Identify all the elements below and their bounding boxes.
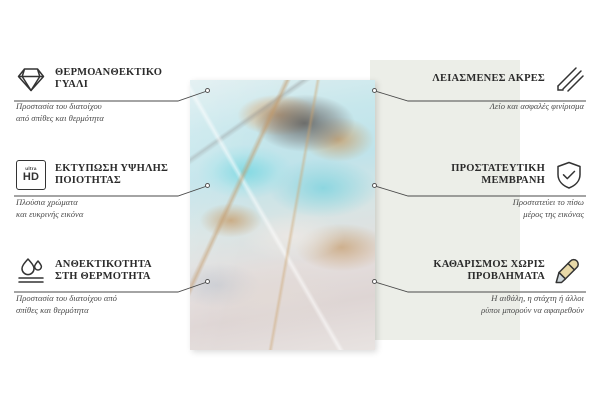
feature-body: Λείο και ασφαλές φινίρισμα	[416, 101, 584, 113]
feature-heat-durability: ΑΝΘΕΚΤΙΚΟΤΗΤΑ ΣΤΗ ΘΕΡΜΟΤΗΤΑ Προστασία το…	[16, 256, 184, 316]
feature-title: ΘΕΡΜΟΑΝΘΕΚΤΙΚΟ ΓΥΑΛΙ	[55, 67, 173, 92]
feature-header: ΘΕΡΜΟΑΝΘΕΚΤΙΚΟ ΓΥΑΛΙ	[16, 64, 184, 94]
infographic-stage: ΘΕΡΜΟΑΝΘΕΚΤΙΚΟ ΓΥΑΛΙ Προστασία του διατο…	[0, 0, 600, 400]
feature-easy-cleaning: ΚΑΘΑΡΙΣΜΟΣ ΧΩΡΙΣ ΠΡΟΒΛΗΜΑΤΑ Η αιθάλη, η …	[416, 256, 584, 316]
feature-title: ΚΑΘΑΡΙΣΜΟΣ ΧΩΡΙΣ ΠΡΟΒΛΗΜΑΤΑ	[427, 259, 545, 284]
connector-node	[205, 279, 210, 284]
feature-title: ΛΕΙΑΣΜΕΝΕΣ ΑΚΡΕΣ	[432, 73, 545, 85]
sponge-clean-icon	[554, 256, 584, 286]
connector-node	[205, 183, 210, 188]
feature-header: ultra HD ΕΚΤΥΠΩΣΗ ΥΨΗΛΗΣ ΠΟΙΟΤΗΤΑΣ	[16, 160, 184, 190]
feature-protective-film: ΠΡΟΣΤΑΤΕΥΤΙΚΗ ΜΕΜΒΡΑΝΗ Προστατεύει το πί…	[416, 160, 584, 220]
connector-node	[372, 88, 377, 93]
feature-body: Η αιθάλη, η στάχτη ή άλλοι ρύποι μπορούν…	[416, 293, 584, 316]
feature-smooth-edges: ΛΕΙΑΣΜΕΝΕΣ ΑΚΡΕΣ Λείο και ασφαλές φινίρι…	[416, 64, 584, 113]
feature-header: ΠΡΟΣΤΑΤΕΥΤΙΚΗ ΜΕΜΒΡΑΝΗ	[416, 160, 584, 190]
feature-body: Προστασία του διατοίχου από σπίθες και θ…	[16, 293, 184, 316]
feature-body: Προστατεύει το πίσω μέρος της εικόνας	[416, 197, 584, 220]
ultra-hd-icon: ultra HD	[16, 160, 46, 190]
shield-icon	[554, 160, 584, 190]
connector-node	[205, 88, 210, 93]
feature-title: ΕΚΤΥΠΩΣΗ ΥΨΗΛΗΣ ΠΟΙΟΤΗΤΑΣ	[55, 163, 173, 188]
feature-header: ΛΕΙΑΣΜΕΝΕΣ ΑΚΡΕΣ	[416, 64, 584, 94]
feature-header: ΚΑΘΑΡΙΣΜΟΣ ΧΩΡΙΣ ΠΡΟΒΛΗΜΑΤΑ	[416, 256, 584, 286]
feature-header: ΑΝΘΕΚΤΙΚΟΤΗΤΑ ΣΤΗ ΘΕΡΜΟΤΗΤΑ	[16, 256, 184, 286]
feature-high-quality-print: ultra HD ΕΚΤΥΠΩΣΗ ΥΨΗΛΗΣ ΠΟΙΟΤΗΤΑΣ Πλούσ…	[16, 160, 184, 220]
connector-node	[372, 279, 377, 284]
diamond-icon	[16, 64, 46, 94]
heat-drop-icon	[16, 256, 46, 286]
feature-title: ΑΝΘΕΚΤΙΚΟΤΗΤΑ ΣΤΗ ΘΕΡΜΟΤΗΤΑ	[55, 259, 173, 284]
feature-title: ΠΡΟΣΤΑΤΕΥΤΙΚΗ ΜΕΜΒΡΑΝΗ	[427, 163, 545, 188]
feature-body: Προστασία του διατοίχου από σπίθες και θ…	[16, 101, 184, 124]
smooth-edges-icon	[554, 64, 584, 94]
feature-heat-resistant-glass: ΘΕΡΜΟΑΝΘΕΚΤΙΚΟ ΓΥΑΛΙ Προστασία του διατο…	[16, 64, 184, 124]
feature-body: Πλούσια χρώματα και ευκρινής εικόνα	[16, 197, 184, 220]
connector-node	[372, 183, 377, 188]
